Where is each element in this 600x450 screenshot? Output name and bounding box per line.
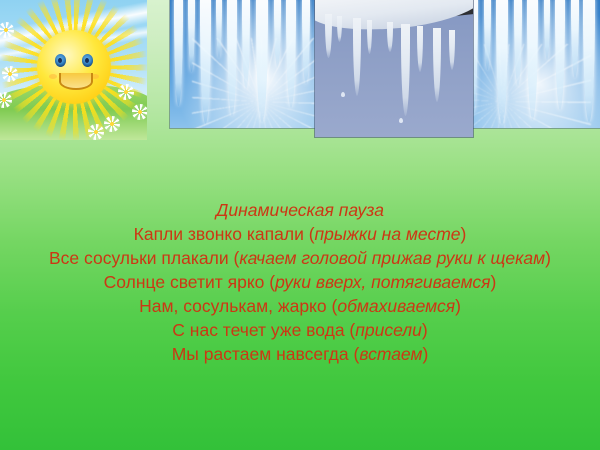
poem-line-tail: ): [545, 248, 551, 268]
poem-line-action: руки вверх, потягиваемся: [275, 272, 490, 292]
sun-eye-right: [82, 54, 93, 67]
poem-line-tail: ): [422, 320, 428, 340]
sun-eye-left: [55, 54, 66, 67]
poem-line-action: присели: [355, 320, 422, 340]
poem-line-text: Нам, сосулькам, жарко (: [139, 296, 337, 316]
daisy-flower: [132, 104, 147, 120]
daisy-flower: [88, 124, 104, 140]
poem-line-tail: ): [455, 296, 461, 316]
daisy-flower: [2, 66, 18, 82]
poem-line-text: С нас течет уже вода (: [172, 320, 355, 340]
poem-line-tail: ): [490, 272, 496, 292]
sun-meadow-photo: [0, 0, 147, 140]
sun-smile: [59, 73, 93, 90]
poem-text-block: Динамическая пауза Капли звонко капали (…: [30, 198, 570, 366]
water-drop: [399, 118, 403, 123]
poem-line: Все сосульки плакали (качаем головой при…: [30, 246, 570, 270]
icicles-roof-photo: [315, 0, 473, 137]
poem-line: Солнце светит ярко (руки вверх, потягива…: [30, 270, 570, 294]
poem-line: Капли звонко капали (прыжки на месте): [30, 222, 570, 246]
poem-line-tail: ): [461, 224, 467, 244]
poem-title: Динамическая пауза: [30, 198, 570, 222]
poem-line-action: обмахиваемся: [337, 296, 455, 316]
poem-line: Мы растаем навсегда (встаем): [30, 342, 570, 366]
poem-line-tail: ): [422, 344, 428, 364]
water-drop: [341, 92, 345, 97]
poem-line-text: Все сосульки плакали (: [49, 248, 239, 268]
sun-face: [37, 30, 111, 104]
daisy-flower: [104, 116, 120, 132]
poem-line-text: Капли звонко капали (: [134, 224, 315, 244]
poem-line-action: качаем головой прижав руки к щекам: [239, 248, 545, 268]
poem-line: С нас течет уже вода (присели): [30, 318, 570, 342]
poem-line-action: прыжки на месте: [315, 224, 461, 244]
poem-line-text: Солнце светит ярко (: [104, 272, 275, 292]
presentation-slide: Динамическая пауза Капли звонко капали (…: [0, 0, 600, 450]
poem-line-text: Мы растаем навсегда (: [172, 344, 360, 364]
sun-cheek-left: [49, 74, 57, 79]
poem-line: Нам, сосулькам, жарко (обмахиваемся): [30, 294, 570, 318]
poem-line-action: встаем: [359, 344, 422, 364]
daisy-flower: [118, 84, 134, 100]
